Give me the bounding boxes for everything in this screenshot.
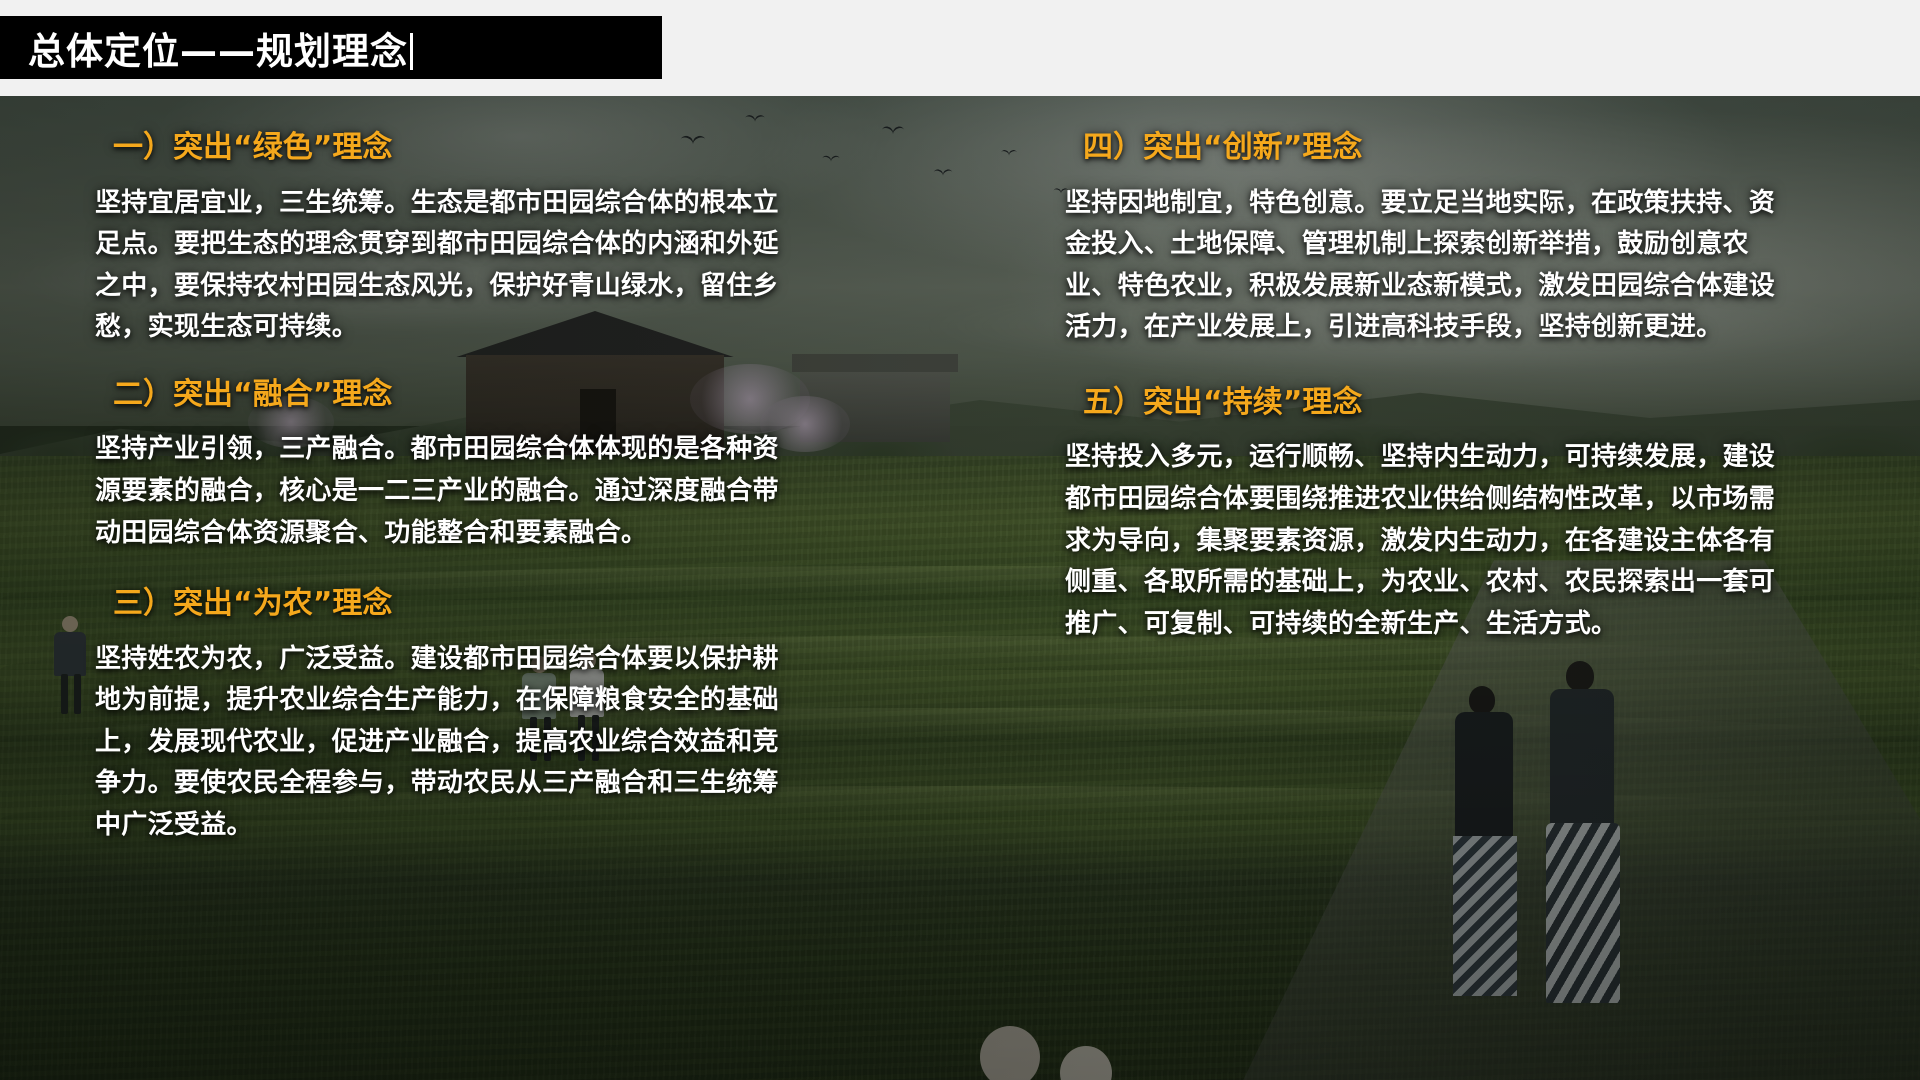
right-text-column: 四）突出“创新”理念 坚持因地制宜，特色创意。要立足当地实际，在政策扶持、资金投… xyxy=(1065,96,1785,651)
concept-block-5: 五）突出“持续”理念 坚持投入多元，运行顺畅、坚持内生动力，可持续发展，建设都市… xyxy=(1065,383,1785,645)
concept-block-4: 四）突出“创新”理念 坚持因地制宜，特色创意。要立足当地实际，在政策扶持、资金投… xyxy=(1065,128,1785,349)
concept-block-2: 二）突出“融合”理念 坚持产业引领，三产融合。都市田园综合体体现的是各种资源要素… xyxy=(95,375,785,554)
concept-body-2: 坚持产业引领，三产融合。都市田园综合体体现的是各种资源要素的融合，核心是一二三产… xyxy=(95,429,785,554)
concept-body-1: 坚持宜居宜业，三生统筹。生态是都市田园综合体的根本立足点。要把生态的理念贯穿到都… xyxy=(95,183,785,349)
text-cursor xyxy=(410,33,413,70)
slide-title-bar: 总体定位——规划理念 xyxy=(0,16,662,79)
concept-heading-5: 五）突出“持续”理念 xyxy=(1083,383,1785,424)
concept-body-5: 坚持投入多元，运行顺畅、坚持内生动力，可持续发展，建设都市田园综合体要围绕推进农… xyxy=(1065,437,1785,645)
concept-block-3: 三）突出“为农”理念 坚持姓农为农，广泛受益。建设都市田园综合体要以保护耕地为前… xyxy=(95,584,785,846)
page-title: 总体定位——规划理念 xyxy=(28,21,413,75)
page-title-text: 总体定位——规划理念 xyxy=(28,30,408,73)
left-text-column: 一）突出“绿色”理念 坚持宜居宜业，三生统筹。生态是都市田园综合体的根本立足点。… xyxy=(95,96,785,853)
concept-heading-4: 四）突出“创新”理念 xyxy=(1083,128,1785,169)
concept-heading-3: 三）突出“为农”理念 xyxy=(113,584,785,625)
concept-heading-2: 二）突出“融合”理念 xyxy=(113,375,785,416)
concept-heading-1: 一）突出“绿色”理念 xyxy=(113,128,785,169)
background-photo: 一）突出“绿色”理念 坚持宜居宜业，三生统筹。生态是都市田园综合体的根本立足点。… xyxy=(0,96,1920,1080)
concept-block-1: 一）突出“绿色”理念 坚持宜居宜业，三生统筹。生态是都市田园综合体的根本立足点。… xyxy=(95,128,785,349)
concept-body-4: 坚持因地制宜，特色创意。要立足当地实际，在政策扶持、资金投入、土地保障、管理机制… xyxy=(1065,183,1785,349)
concept-body-3: 坚持姓农为农，广泛受益。建设都市田园综合体要以保护耕地为前提，提升农业综合生产能… xyxy=(95,639,785,847)
slide-root: 总体定位——规划理念 xyxy=(0,0,1920,1080)
